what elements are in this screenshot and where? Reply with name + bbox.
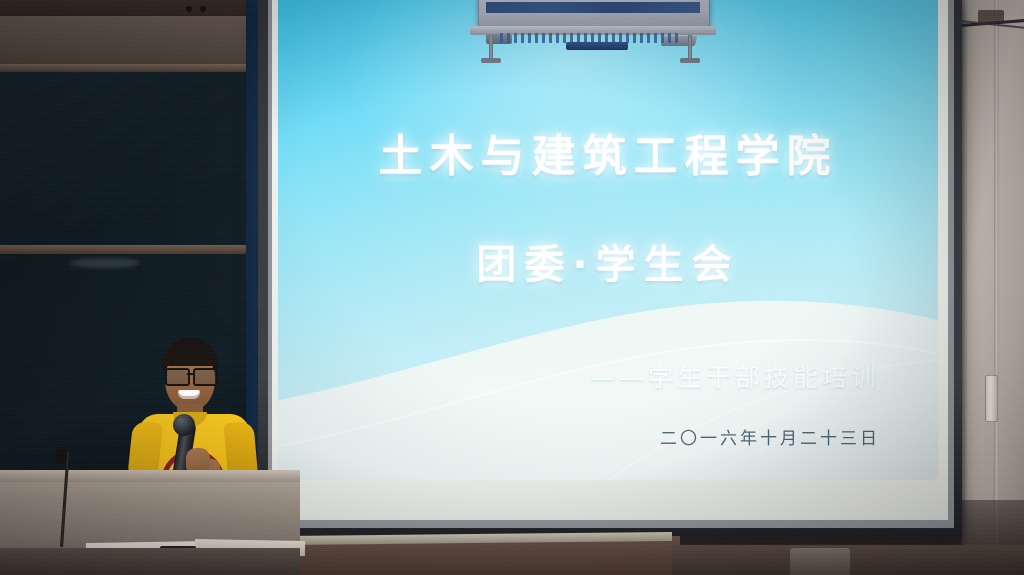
chalk-smudge [70, 258, 140, 268]
wall-pipe [994, 0, 999, 575]
projector-foot-right [680, 58, 700, 63]
slide-title-line-2: 团委·学生会 [278, 232, 938, 290]
podium-microphone-head-icon [56, 447, 67, 463]
speaker-smile [178, 390, 200, 399]
chair [790, 548, 850, 575]
beam-screw [186, 6, 192, 12]
beam-screw [200, 6, 206, 12]
projector-lens [566, 42, 628, 50]
chalk-rail [0, 245, 258, 254]
presentation-slide: 土木与建筑工程学院 团委·学生会 ——学生干部技能培训 二〇一六年十月二十三日 [278, 0, 938, 480]
lectern-top-surface [0, 470, 300, 482]
slide-subtitle: ——学生干部技能培训 [590, 358, 880, 394]
projector-label-strip [486, 2, 700, 13]
lectern-front-panel [0, 548, 300, 575]
projector-foot-left [481, 58, 501, 63]
slide-title-line-1: 土木与建筑工程学院 [278, 120, 938, 184]
slide-date: 二〇一六年十月二十三日 [660, 424, 880, 449]
wall-switch[interactable] [985, 375, 998, 422]
glasses-lens-right [193, 368, 218, 386]
slide-text-block: 土木与建筑工程学院 团委·学生会 ——学生干部技能培训 二〇一六年十月二十三日 [278, 0, 938, 480]
glasses-icon [164, 368, 216, 382]
right-wall [962, 0, 1024, 575]
glasses-bridge [187, 373, 194, 375]
upper-ledge [0, 16, 262, 68]
speaker-fringe [162, 344, 218, 366]
glasses-lens-left [165, 368, 190, 386]
screenshot-root: 土木与建筑工程学院 团委·学生会 ——学生干部技能培训 二〇一六年十月二十三日 [0, 0, 1024, 575]
